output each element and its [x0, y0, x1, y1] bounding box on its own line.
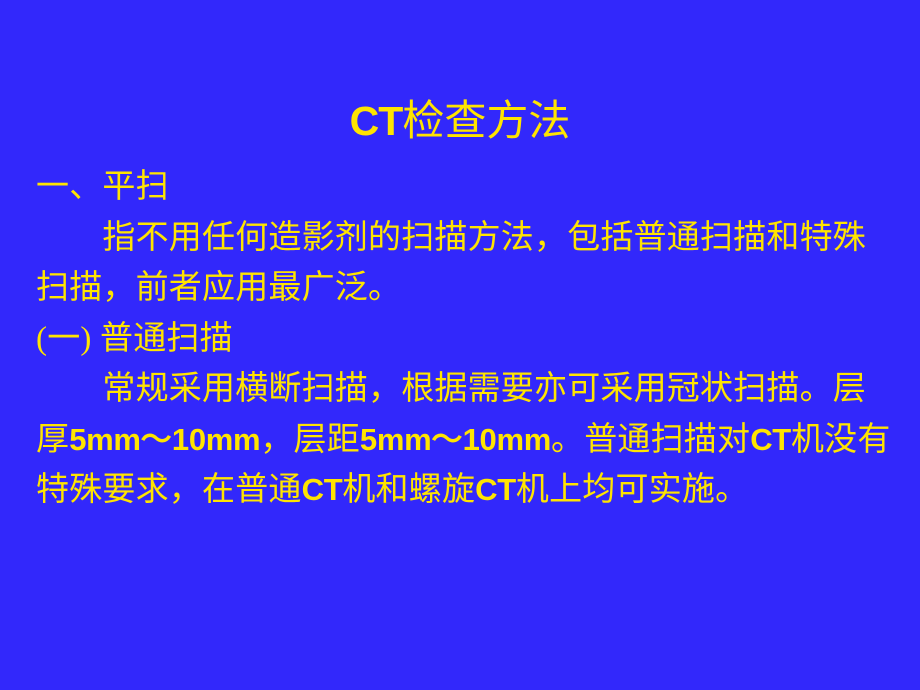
slide-canvas: CT检查方法 一、平扫 指不用任何造影剂的扫描方法，包括普通扫描和特殊扫描，前者…	[0, 0, 920, 690]
page-title-han: 检查方法	[402, 99, 570, 145]
range-separator: ～	[141, 422, 172, 457]
measurement-text: 5mm	[69, 422, 140, 457]
body-text: 。普通扫描对	[551, 422, 750, 458]
slide-body: 一、平扫 指不用任何造影剂的扫描方法，包括普通扫描和特殊扫描，前者应用最广泛。 …	[36, 162, 892, 516]
measurement-text: CT	[750, 422, 791, 457]
section-heading-1: 一、平扫	[36, 162, 892, 213]
body-text: 机上均可实施。	[516, 472, 748, 508]
page-title-latin: CT	[350, 98, 403, 144]
body-text: ，层距	[260, 422, 360, 458]
paragraph-2: 常规采用横断扫描，根据需要亦可采用冠状扫描。层厚5mm～10mm，层距5mm～1…	[36, 364, 892, 516]
paragraph-1: 指不用任何造影剂的扫描方法，包括普通扫描和特殊扫描，前者应用最广泛。	[36, 213, 892, 314]
measurement-text: 10mm	[172, 422, 260, 457]
section-heading-2: (一) 普通扫描	[36, 314, 892, 365]
measurement-text: 10mm	[463, 422, 551, 457]
measurement-text: CT	[475, 472, 516, 507]
measurement-text: CT	[302, 472, 343, 507]
page-title: CT检查方法	[0, 96, 920, 147]
measurement-text: 5mm	[360, 422, 431, 457]
body-text: 机和螺旋	[342, 472, 475, 508]
range-separator: ～	[431, 422, 462, 457]
